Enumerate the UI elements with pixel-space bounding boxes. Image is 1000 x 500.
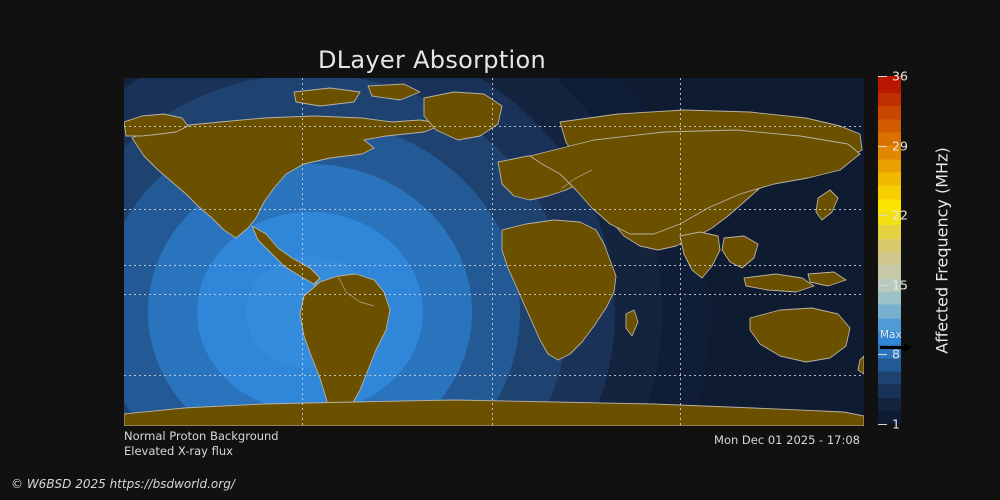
max-marker: Max [878, 330, 924, 358]
xray-status-text: Elevated X-ray flux [124, 444, 279, 459]
colorbar [878, 76, 901, 424]
colorbar-tick-mark [878, 215, 887, 216]
colorbar-tick-label: 1 [892, 417, 900, 432]
status-annotations: Normal Proton Background Elevated X-ray … [124, 429, 279, 459]
colorbar-tick-label: 29 [892, 138, 908, 153]
max-arrow-icon [880, 343, 912, 352]
colorbar-axis-label: Affected Frequency (MHz) [931, 76, 953, 424]
colorbar-tick-mark [878, 76, 887, 77]
max-marker-label: Max [880, 330, 902, 341]
colorbar-tick-label: 22 [892, 208, 908, 223]
colorbar-axis-label-text: Affected Frequency (MHz) [933, 147, 952, 353]
dlayer-absorption-map-view: DLayer Absorption [0, 0, 1000, 500]
timestamp: Mon Dec 01 2025 - 17:08 [714, 433, 860, 447]
colorbar-tick-label: 15 [892, 277, 908, 292]
copyright-notice: © W6BSD 2025 https://bsdworld.org/ [11, 477, 235, 491]
colorbar-tick-label: 36 [892, 69, 908, 84]
colorbar-tick-mark [878, 285, 887, 286]
world-map-panel[interactable] [124, 78, 864, 426]
colorbar-gradient [878, 76, 901, 424]
proton-status-text: Normal Proton Background [124, 429, 279, 444]
colorbar-tick-mark [878, 424, 887, 425]
world-map-canvas [124, 78, 864, 426]
colorbar-tick-mark [878, 146, 887, 147]
page-title: DLayer Absorption [0, 46, 864, 74]
